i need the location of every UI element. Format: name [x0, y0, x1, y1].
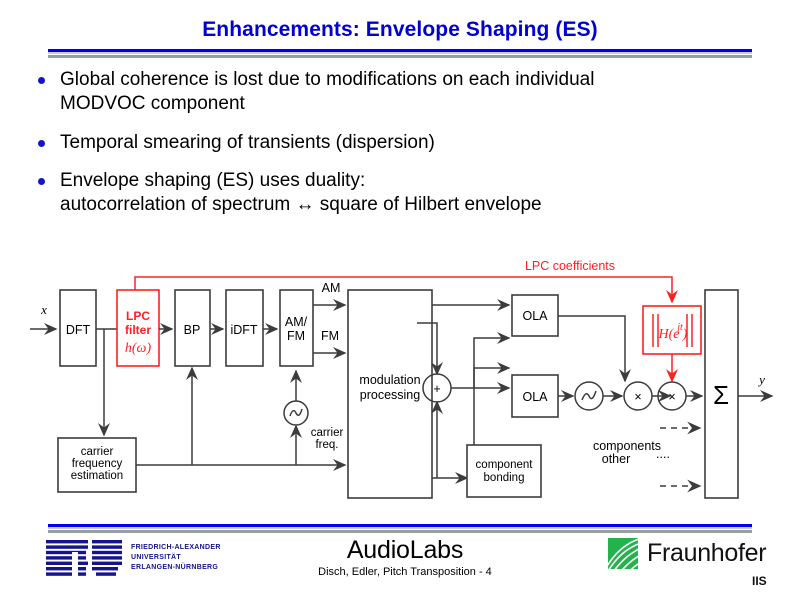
block-lpc-filter-label-1: LPC: [126, 309, 150, 323]
block-component-bonding: [467, 445, 541, 497]
multiplier-1-label: ×: [634, 390, 641, 404]
other-components-label-1: components: [593, 439, 661, 453]
adder-branch-to-ola-top: [474, 338, 509, 388]
am-label: AM: [322, 281, 341, 295]
block-ola-bottom-label: OLA: [522, 390, 548, 404]
list-item: Global coherence is lost due to modifica…: [24, 68, 784, 117]
carrier-est-label-2: frequency: [72, 458, 123, 470]
slide-citation: Disch, Edler, Pitch Transposition - 4: [300, 566, 510, 578]
bullet-dot-icon: [38, 77, 45, 84]
fau-wordmark: FRIEDRICH-ALEXANDER UNIVERSITÄT ERLANGEN…: [131, 543, 221, 573]
bullet-dot-icon: [38, 140, 45, 147]
ola-top-to-multiplier-1: [558, 316, 625, 381]
audiolabs-block: AudioLabs Disch, Edler, Pitch Transposit…: [300, 536, 510, 578]
block-modulation-label-2: processing: [360, 388, 420, 402]
fm-label: FM: [321, 329, 339, 343]
carrier-freq-label-2: freq.: [315, 439, 338, 451]
fau-wordmark-line1: FRIEDRICH-ALEXANDER: [131, 543, 221, 553]
fraunhofer-logo: Fraunhofer: [608, 538, 766, 569]
fau-wordmark-line3: ERLANGEN-NÜRNBERG: [131, 563, 221, 573]
hilbert-envelope-close: ): [682, 327, 688, 342]
bullet-text: Envelope shaping (ES) uses duality: auto…: [60, 170, 542, 215]
fraunhofer-name: Fraunhofer: [647, 539, 766, 568]
carrier-est-label-1: carrier: [81, 446, 114, 458]
fau-logo: FRIEDRICH-ALEXANDER UNIVERSITÄT ERLANGEN…: [46, 538, 221, 578]
block-bp-label: BP: [184, 323, 201, 337]
block-idft-label: iDFT: [230, 323, 257, 337]
block-am-fm-label-1: AM/: [285, 315, 308, 329]
component-bonding-label-2: bonding: [484, 472, 525, 484]
slide-root: Enhancements: Envelope Shaping (ES) Glob…: [0, 0, 800, 600]
block-ola-top-label: OLA: [522, 309, 548, 323]
multiplier-2-label: ×: [668, 390, 675, 404]
other-components-ellipsis: ....: [656, 447, 670, 461]
input-signal-label: x: [40, 302, 47, 317]
title-rule-lavender: [48, 52, 752, 54]
block-summation-label: Σ: [713, 380, 729, 410]
hilbert-envelope-main: H(e: [658, 327, 680, 342]
footer-rule-lavender: [48, 527, 752, 529]
adder-label: +: [433, 382, 440, 396]
page-title: Enhancements: Envelope Shaping (ES): [0, 18, 800, 42]
block-diagram: LPC coefficients x DFT LPC filter h(ω) B…: [0, 250, 800, 520]
audiolabs-name: AudioLabs: [300, 536, 510, 565]
fraunhofer-institute: IIS: [752, 574, 767, 588]
fau-logo-mark: [46, 538, 124, 578]
bullet-dot-icon: [38, 178, 45, 185]
adder-branch-to-ola-bottom-upper: [474, 368, 509, 388]
carrier-est-label-3: estimation: [71, 470, 123, 482]
block-lpc-filter-label-2: filter: [125, 323, 151, 337]
fraunhofer-logo-mark: [608, 538, 638, 569]
block-dft-label: DFT: [66, 323, 91, 337]
bullet-text: Temporal smearing of transients (dispers…: [60, 132, 435, 153]
bullet-text: Global coherence is lost due to modifica…: [60, 69, 594, 114]
block-modulation-label-1: modulation: [359, 373, 420, 387]
component-bonding-label-1: component: [476, 459, 534, 471]
bullet-list: Global coherence is lost due to modifica…: [24, 68, 784, 232]
lpc-coefficients-label: LPC coefficients: [525, 259, 615, 273]
block-am-fm-label-2: FM: [287, 329, 305, 343]
footer-rule-gray: [48, 530, 752, 533]
other-components-label-2: other: [602, 452, 631, 466]
title-rule-gray: [48, 55, 752, 58]
list-item: Temporal smearing of transients (dispers…: [24, 131, 784, 155]
list-item: Envelope shaping (ES) uses duality: auto…: [24, 169, 784, 218]
output-signal-label: y: [757, 372, 765, 387]
fau-wordmark-line2: UNIVERSITÄT: [131, 553, 221, 563]
carrier-freq-label-1: carrier: [311, 427, 344, 439]
block-lpc-filter-formula: h(ω): [125, 341, 152, 356]
